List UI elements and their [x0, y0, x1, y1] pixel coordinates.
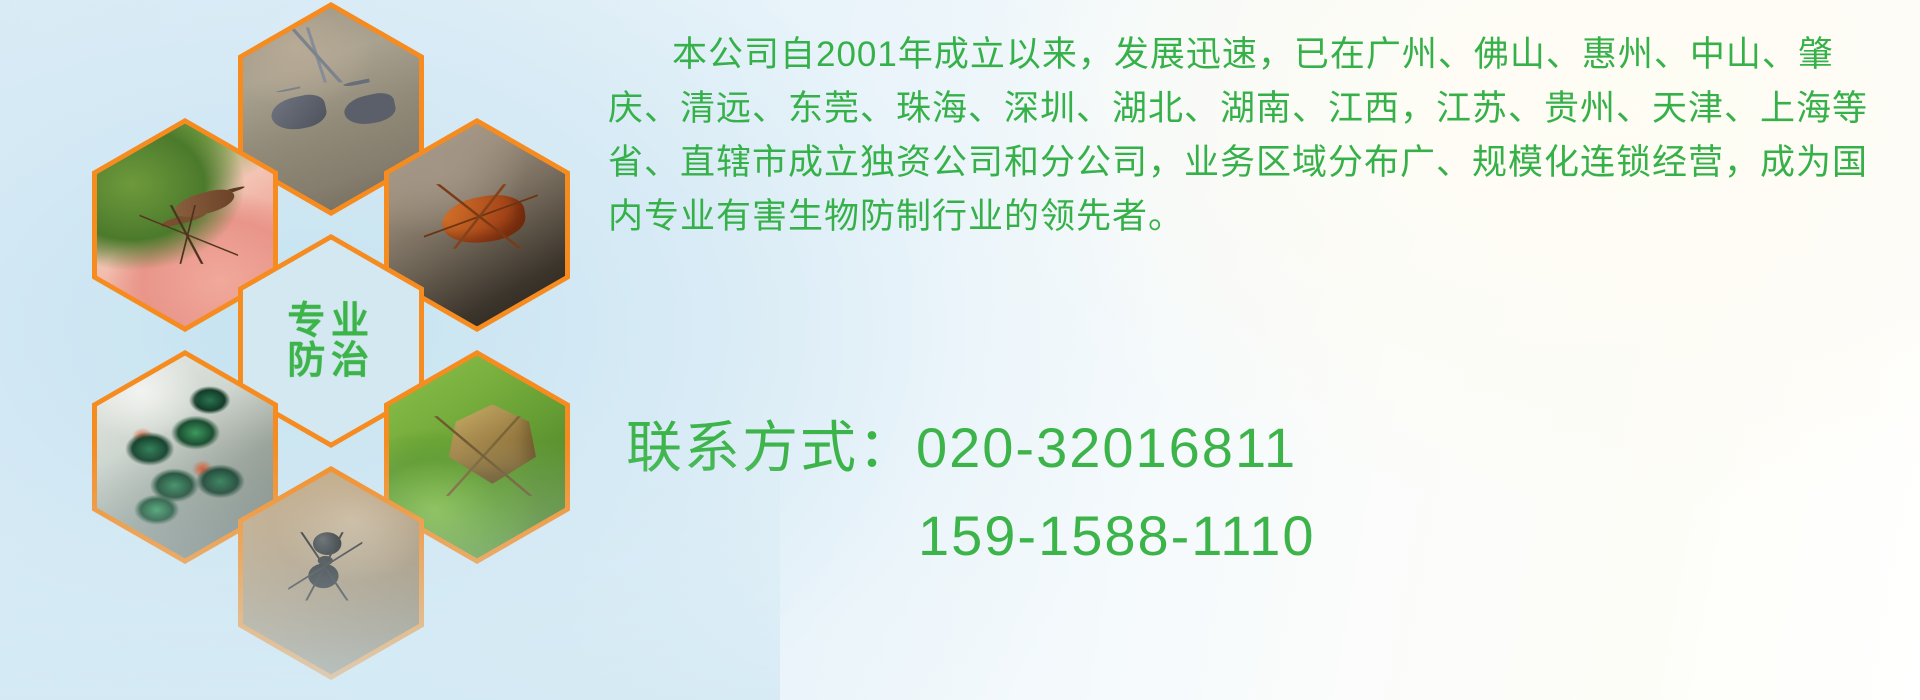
contact-line-secondary[interactable]: 159-1588-1110	[626, 492, 1916, 580]
honeycomb-cluster: 专业 防治	[70, 0, 590, 552]
center-slogan-line2: 防治	[287, 341, 374, 381]
center-slogan-line1: 专业	[287, 301, 374, 341]
hex-inner	[243, 472, 419, 675]
ant-photo	[243, 472, 419, 675]
company-description-text: 本公司自2001年成立以来，发展迅速，已在广州、佛山、惠州、中山、肇庆、清远、东…	[608, 28, 1898, 244]
contact-block: 联系方式：020-32016811 159-1588-1110	[626, 404, 1916, 580]
company-description-block: 本公司自2001年成立以来，发展迅速，已在广州、佛山、惠州、中山、肇庆、清远、东…	[608, 28, 1908, 244]
center-slogan: 专业 防治	[287, 301, 374, 381]
promo-banner: 专业 防治 本公司自2001年成立以来，发展迅速，已在广州、佛山、惠州、中山、肇…	[0, 0, 1920, 700]
contact-line-primary[interactable]: 联系方式：020-32016811	[626, 404, 1916, 492]
